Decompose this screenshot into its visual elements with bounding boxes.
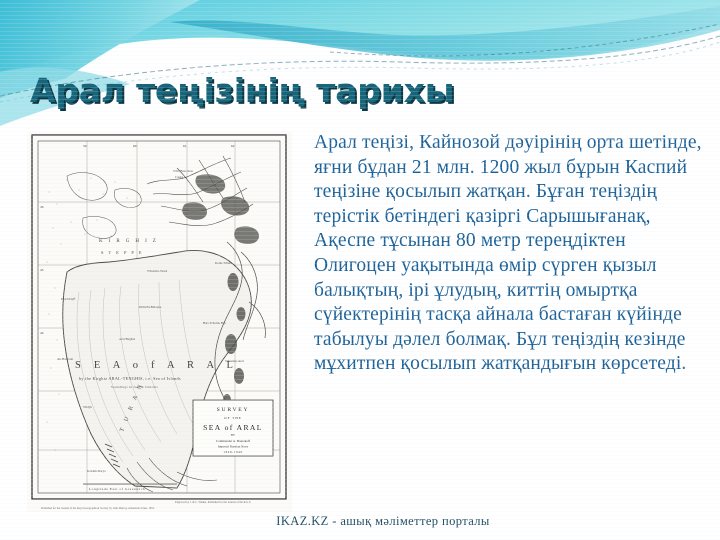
cartouche-line5: Commander A. Boutakoff (216, 439, 251, 443)
svg-text:Tchoubar-Terek: Tchoubar-Terek (147, 269, 168, 273)
map-credit-right: Engraved by J. & C. Walker. Published fo… (175, 501, 251, 504)
svg-text:45: 45 (40, 268, 44, 272)
map-credit-left: Published for the Journal of the Royal G… (41, 507, 155, 510)
wave-shape-right (170, 6, 720, 61)
svg-text:62: 62 (231, 144, 235, 148)
svg-text:61: 61 (183, 144, 187, 148)
cartouche-line6: Imperial Russian Navy (218, 445, 249, 449)
svg-text:Taldyk: Taldyk (83, 405, 92, 409)
cartouche-line7: 1848-1849 (223, 450, 242, 454)
map-region-label-kirghiz: K I R G H I Z (99, 239, 158, 244)
cartouche-line1: SURVEY (217, 407, 250, 413)
slide-canvas: Арал теңізінің тарихы 59 (0, 0, 720, 540)
map-region-label-steppe: S T E P P E (101, 250, 143, 255)
svg-text:44: 44 (40, 331, 44, 335)
svg-text:Aral Bughaz: Aral Bughaz (119, 337, 136, 341)
svg-text:Ak-Bouroun: Ak-Bouroun (57, 357, 74, 361)
svg-text:59: 59 (83, 144, 87, 148)
svg-text:Bart-Tcholok Bay: Bart-Tcholok Bay (203, 321, 226, 325)
wave-filament-3 (330, 24, 720, 56)
map-sea-label: S E A o f A R A L (75, 360, 238, 371)
footer-label: IKAZ.KZ - ашық мәліметтер порталы (230, 514, 489, 529)
map-sea-sublabel-2: Soundings in feet & fathoms (111, 385, 158, 389)
svg-text:Kazakh-Darya: Kazakh-Darya (87, 469, 106, 473)
map-scale-label: Longitude East of Greenwich (89, 487, 145, 491)
slide-title: Арал теңізінің тарихы (30, 72, 590, 110)
cartouche-line2: OF THE (224, 416, 242, 420)
svg-text:Tcho-Bass-Kou: Tcho-Bass-Kou (173, 169, 193, 173)
wave-shape-main (0, 0, 720, 82)
map-image: 59 60 61 62 46 45 44 (27, 132, 292, 512)
svg-text:60: 60 (133, 144, 137, 148)
wave-decoration-svg (0, 0, 720, 130)
map-cartouche: SURVEY OF THE SEA of ARAL BY Commander A… (193, 400, 273, 456)
antique-map-svg: 59 60 61 62 46 45 44 (27, 132, 292, 512)
body-text-block: Арал теңізі, Кайнозой дәуірінің орта шет… (314, 131, 710, 377)
body-paragraph: Арал теңізі, Кайнозой дәуірінің орта шет… (314, 131, 710, 377)
svg-text:Kouk-Tcheke: Kouk-Tcheke (215, 261, 233, 265)
svg-text:Dead Klyff: Dead Klyff (61, 297, 76, 301)
svg-text:Tchoubar-Aral: Tchoubar-Aral (225, 359, 244, 363)
svg-text:Castre: Castre (175, 175, 184, 179)
svg-text:Killitchi-Bulaque: Killitchi-Bulaque (139, 305, 162, 309)
svg-text:46: 46 (40, 205, 44, 209)
footer: IKAZ.KZ - ашық мәліметтер порталы (0, 514, 720, 529)
header-decoration (0, 0, 720, 130)
cartouche-line3: SEA of ARAL (203, 423, 263, 432)
